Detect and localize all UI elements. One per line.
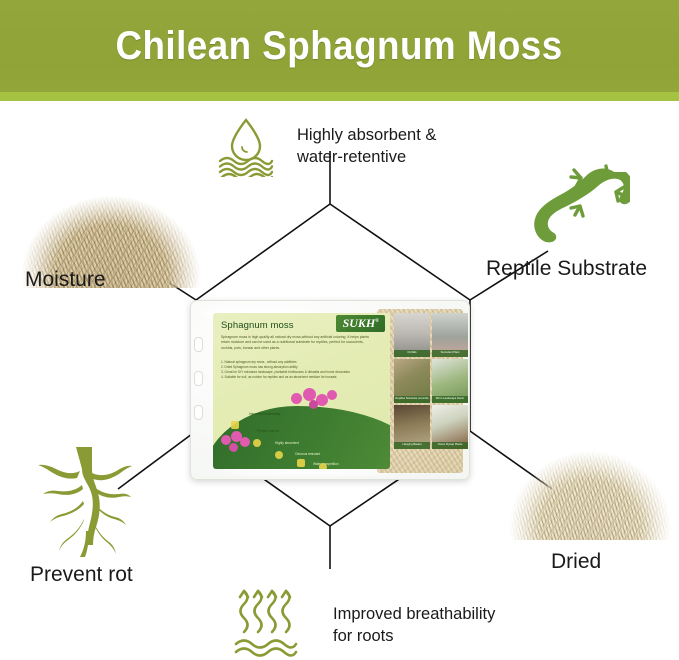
photo-caption: Venus Flytrap Plants (432, 442, 468, 449)
photo-cell: Venus Flytrap Plants (432, 405, 468, 449)
photo-cell: Hanging Basket (394, 405, 430, 449)
photo-cell: Micro Landscape Decor (432, 359, 468, 403)
package-label: Sphagnum moss SUKH® Sphagnum moss is hig… (213, 313, 390, 469)
photo-cell: Reptiles Substrate (Lizards) (394, 359, 430, 403)
photo-cell: Orchids (394, 313, 430, 357)
label-feature-2: Highly absorbent (275, 441, 299, 445)
product-package-image: Sphagnum moss SUKH® Sphagnum moss is hig… (190, 300, 470, 480)
label-body-text: Sphagnum moss is high quality all natura… (221, 335, 371, 351)
feature-reptile-label: Reptile Substrate (486, 257, 647, 281)
label-title: Sphagnum moss (221, 320, 294, 331)
gecko-icon (518, 162, 630, 254)
orchid-illustration-1 (289, 387, 341, 413)
photo-cell: Succulent Plant (432, 313, 468, 357)
label-badge-icon-4 (297, 459, 305, 467)
photo-caption: Orchids (394, 350, 430, 357)
photo-caption: Succulent Plant (432, 350, 468, 357)
plant-roots-icon (36, 447, 132, 557)
photo-caption: Reptiles Substrate (Lizards) (394, 396, 430, 403)
feature-dried-label: Dried (551, 550, 601, 574)
feature-prevent-rot-label: Prevent rot (30, 563, 133, 587)
page-title: Chilean Sphagnum Moss (116, 24, 563, 69)
water-drop-waves-icon (215, 115, 277, 177)
package-photo-grid: Orchids Succulent Plant Reptiles Substra… (394, 313, 468, 469)
label-bullet-list: 1. Natural sphagnum dry moss , without a… (221, 360, 373, 381)
label-feature-0: Improved breathability (249, 413, 285, 417)
label-feature-3: Odorous resistant (295, 452, 320, 456)
feature-absorbent-label: Highly absorbent & water-retentive (297, 124, 487, 169)
dried-moss-pile-image (506, 436, 674, 540)
photo-caption: Hanging Basket (394, 442, 430, 449)
label-badge-icon-5 (319, 463, 327, 469)
header-banner: Chilean Sphagnum Moss (0, 0, 679, 92)
photo-caption: Micro Landscape Decor (432, 396, 468, 403)
rising-vapor-waves-icon (232, 586, 302, 660)
label-badge-icon-1 (231, 421, 239, 429)
feature-moisture-label: Moisture (25, 268, 106, 292)
brand-logo: SUKH® (336, 315, 385, 332)
header-accent-stripe (0, 92, 679, 101)
label-badge-icon-3 (275, 451, 283, 459)
label-feature-1: Prevent root rot (257, 429, 279, 433)
feature-breathability-label: Improved breathability for roots (333, 603, 563, 648)
orchid-illustration-2 (221, 431, 255, 457)
